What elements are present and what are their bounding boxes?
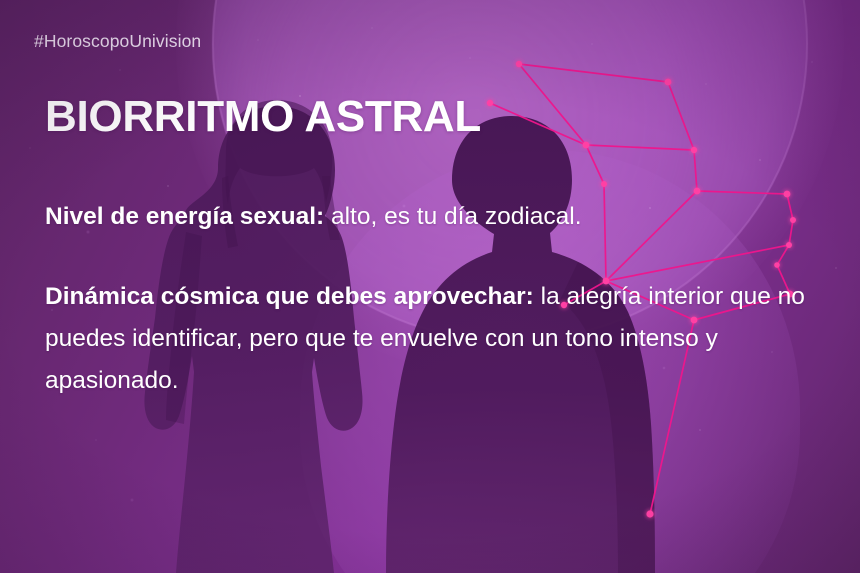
dynamic-label: Dinámica cósmica que debes aprovechar: <box>45 283 534 310</box>
dynamic-paragraph: Dinámica cósmica que debes aprovechar: l… <box>45 276 815 402</box>
hashtag-label: #HoroscopoUnivision <box>34 31 201 52</box>
horoscope-card: #HoroscopoUnivision BIORRITMO ASTRAL Niv… <box>0 0 860 573</box>
text-content: #HoroscopoUnivision BIORRITMO ASTRAL Niv… <box>0 0 860 573</box>
energy-label: Nivel de energía sexual: <box>45 203 324 230</box>
page-title: BIORRITMO ASTRAL <box>45 94 481 140</box>
energy-value: alto, es tu día zodiacal. <box>324 203 581 230</box>
energy-paragraph: Nivel de energía sexual: alto, es tu día… <box>45 196 815 238</box>
